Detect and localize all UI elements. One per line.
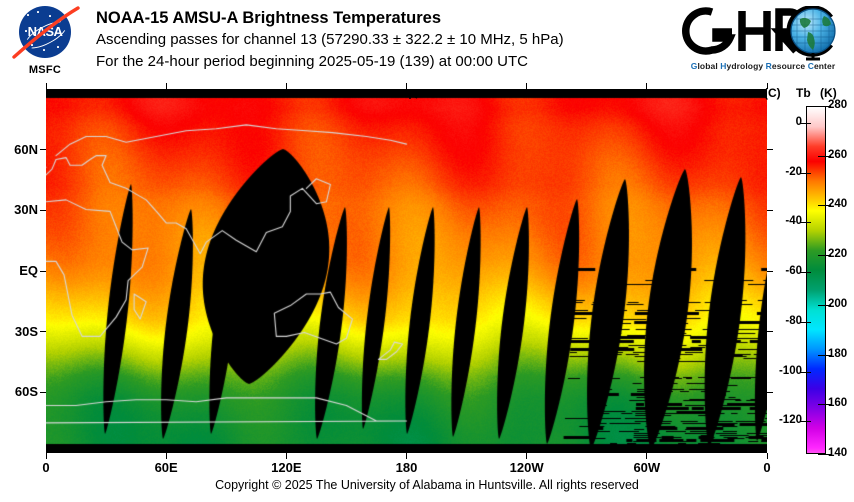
y-axis-label: 60N xyxy=(0,142,38,157)
y-axis-tick xyxy=(40,331,46,332)
colorbar-header: (C) Tb (K) xyxy=(764,86,854,100)
y-axis-tick xyxy=(767,149,773,150)
y-axis-tick xyxy=(40,271,46,272)
x-axis-label: 60E xyxy=(136,460,196,475)
y-axis-tick xyxy=(40,210,46,211)
y-axis-tick xyxy=(767,210,773,211)
colorbar-kelvin-label: 220 xyxy=(828,248,847,260)
x-axis-label: 60W xyxy=(617,460,677,475)
x-axis-label: 0 xyxy=(16,460,76,475)
x-axis-tick xyxy=(46,453,47,459)
y-axis-tick xyxy=(767,392,773,393)
x-axis-tick xyxy=(286,83,287,89)
colorbar-kelvin-label: 160 xyxy=(828,397,847,409)
y-axis-label: EQ xyxy=(0,263,38,278)
colorbar-celsius-label: -80 xyxy=(768,315,802,327)
page-period: For the 24-hour period beginning 2025-05… xyxy=(96,51,666,73)
colorbar-gradient xyxy=(806,106,826,454)
colorbar-kelvin-label: 260 xyxy=(828,149,847,161)
colorbar-kelvin-unit: (K) xyxy=(820,86,837,100)
x-axis-tick xyxy=(166,453,167,459)
colorbar-celsius-unit: (C) xyxy=(764,86,781,100)
nasa-swoosh-icon xyxy=(8,5,82,61)
swath-direction-marker-icon xyxy=(408,88,444,100)
colorbar-celsius-label: -40 xyxy=(768,215,802,227)
x-axis-tick xyxy=(646,83,647,89)
x-axis-tick xyxy=(46,83,47,89)
colorbar[interactable] xyxy=(806,106,826,454)
copyright-notice: Copyright © 2025 The University of Alaba… xyxy=(0,478,854,492)
x-axis-tick xyxy=(646,453,647,459)
colorbar-kelvin-label: 240 xyxy=(828,198,847,210)
y-axis-label: 60S xyxy=(0,384,38,399)
map-plot-area[interactable] xyxy=(46,89,767,453)
brightness-temperature-heatmap[interactable] xyxy=(46,89,767,453)
colorbar-tb-label: Tb xyxy=(796,86,811,100)
colorbar-celsius-label: -100 xyxy=(768,365,802,377)
colorbar-celsius-label: -60 xyxy=(768,265,802,277)
x-axis-tick xyxy=(406,83,407,89)
y-axis-label: 30S xyxy=(0,324,38,339)
page-title: NOAA-15 AMSU-A Brightness Temperatures xyxy=(96,8,666,29)
ghrc-logo: Global Hydrology Resource Center xyxy=(676,4,848,84)
ghrc-subtitle: Global Hydrology Resource Center xyxy=(680,61,846,71)
x-axis-tick xyxy=(406,453,407,459)
x-axis-tick xyxy=(526,83,527,89)
title-block: NOAA-15 AMSU-A Brightness Temperatures A… xyxy=(96,8,666,73)
colorbar-celsius-label: -20 xyxy=(768,166,802,178)
x-axis-tick xyxy=(526,453,527,459)
y-axis-tick xyxy=(40,392,46,393)
y-axis-tick xyxy=(767,331,773,332)
colorbar-kelvin-label: 280 xyxy=(828,99,847,111)
ghrc-wordmark-icon xyxy=(678,6,846,62)
x-axis-label: 120W xyxy=(497,460,557,475)
colorbar-kelvin-label: 140 xyxy=(828,447,847,459)
x-axis-tick xyxy=(286,453,287,459)
x-axis-label: 180 xyxy=(377,460,437,475)
msfc-label: MSFC xyxy=(10,64,80,76)
y-axis-tick xyxy=(40,149,46,150)
nasa-logo: NASA MSFC xyxy=(10,6,80,84)
y-axis-label: 30N xyxy=(0,202,38,217)
colorbar-celsius-label: 0 xyxy=(768,116,802,128)
x-axis-tick xyxy=(166,83,167,89)
colorbar-kelvin-label: 200 xyxy=(828,298,847,310)
x-axis-tick xyxy=(767,453,768,459)
colorbar-celsius-label: -120 xyxy=(768,414,802,426)
x-axis-label: 0 xyxy=(737,460,797,475)
page-header: NASA MSFC NOAA-15 AMSU-A Brightness Temp… xyxy=(0,0,854,88)
page-subtitle: Ascending passes for channel 13 (57290.3… xyxy=(96,29,666,51)
colorbar-kelvin-label: 180 xyxy=(828,348,847,360)
x-axis-label: 120E xyxy=(256,460,316,475)
